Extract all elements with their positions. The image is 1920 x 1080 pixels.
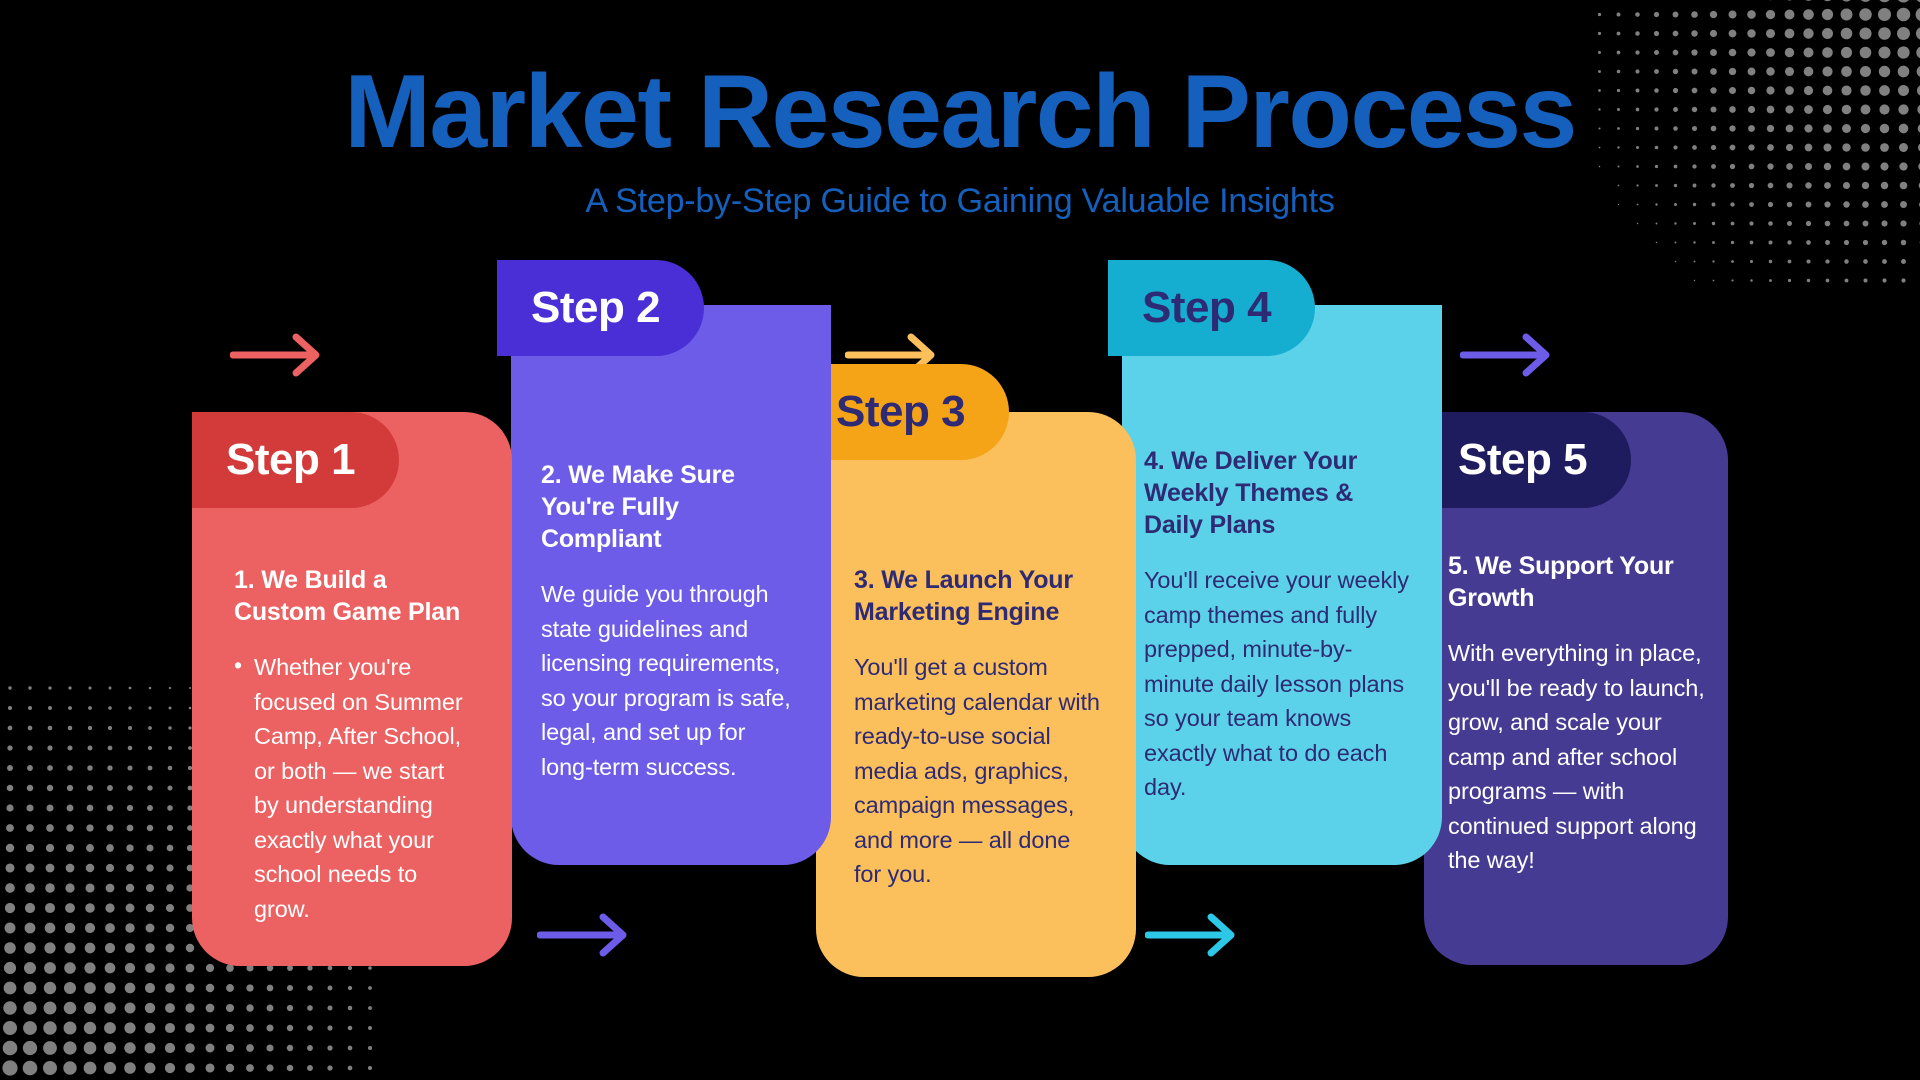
page-title: Market Research Process bbox=[0, 60, 1920, 164]
step-1-heading: 1. We Build a Custom Game Plan bbox=[234, 564, 474, 628]
step-2-label-badge: Step 2 bbox=[497, 260, 704, 356]
step-1-body-list: Whether you're focused on Summer Camp, A… bbox=[234, 650, 474, 926]
page-subtitle: A Step-by-Step Guide to Gaining Valuable… bbox=[0, 182, 1920, 221]
step-2-heading: 2. We Make Sure You're Fully Compliant bbox=[541, 459, 803, 555]
step-5-label-badge: Step 5 bbox=[1424, 412, 1631, 508]
step-3-content: 3. We Launch Your Marketing Engine You'l… bbox=[854, 564, 1102, 892]
arrow-under-step-4-icon bbox=[1145, 912, 1237, 958]
step-card-3[interactable]: Step 3 3. We Launch Your Marketing Engin… bbox=[816, 412, 1136, 977]
header: Market Research Process A Step-by-Step G… bbox=[0, 60, 1920, 221]
step-card-2[interactable]: Step 2 2. We Make Sure You're Fully Comp… bbox=[511, 305, 831, 865]
step-1-label-badge: Step 1 bbox=[192, 412, 399, 508]
step-4-body-text: You'll receive your weekly camp themes a… bbox=[1144, 563, 1412, 805]
step-1-content: 1. We Build a Custom Game Plan Whether y… bbox=[234, 564, 474, 926]
step-5-content: 5. We Support Your Growth With everythin… bbox=[1448, 550, 1716, 878]
step-card-4[interactable]: Step 4 4. We Deliver Your Weekly Themes … bbox=[1122, 305, 1442, 865]
step-3-body-text: You'll get a custom marketing calendar w… bbox=[854, 650, 1102, 892]
infographic-canvas: Market Research Process A Step-by-Step G… bbox=[0, 0, 1920, 1080]
step-5-body-text: With everything in place, you'll be read… bbox=[1448, 636, 1716, 878]
step-2-body-text: We guide you through state guidelines an… bbox=[541, 577, 803, 784]
step-2-label-text: Step 2 bbox=[531, 283, 660, 333]
arrow-to-step-1-icon bbox=[230, 332, 322, 378]
step-5-heading: 5. We Support Your Growth bbox=[1448, 550, 1716, 614]
step-2-content: 2. We Make Sure You're Fully Compliant W… bbox=[541, 459, 803, 784]
arrow-to-step-5-icon bbox=[1460, 332, 1552, 378]
step-card-1[interactable]: Step 1 1. We Build a Custom Game Plan Wh… bbox=[192, 412, 512, 966]
step-4-heading: 4. We Deliver Your Weekly Themes & Daily… bbox=[1144, 445, 1412, 541]
step-4-label-text: Step 4 bbox=[1142, 283, 1271, 333]
step-1-body-text: Whether you're focused on Summer Camp, A… bbox=[234, 650, 474, 926]
step-5-label-text: Step 5 bbox=[1458, 435, 1587, 485]
step-3-label-badge: Step 3 bbox=[802, 364, 1009, 460]
step-3-heading: 3. We Launch Your Marketing Engine bbox=[854, 564, 1102, 628]
step-card-5[interactable]: Step 5 5. We Support Your Growth With ev… bbox=[1424, 412, 1728, 965]
step-4-label-badge: Step 4 bbox=[1108, 260, 1315, 356]
step-1-label-text: Step 1 bbox=[226, 435, 355, 485]
step-4-content: 4. We Deliver Your Weekly Themes & Daily… bbox=[1144, 445, 1412, 805]
step-3-label-text: Step 3 bbox=[836, 387, 965, 437]
arrow-under-step-2-icon bbox=[537, 912, 629, 958]
